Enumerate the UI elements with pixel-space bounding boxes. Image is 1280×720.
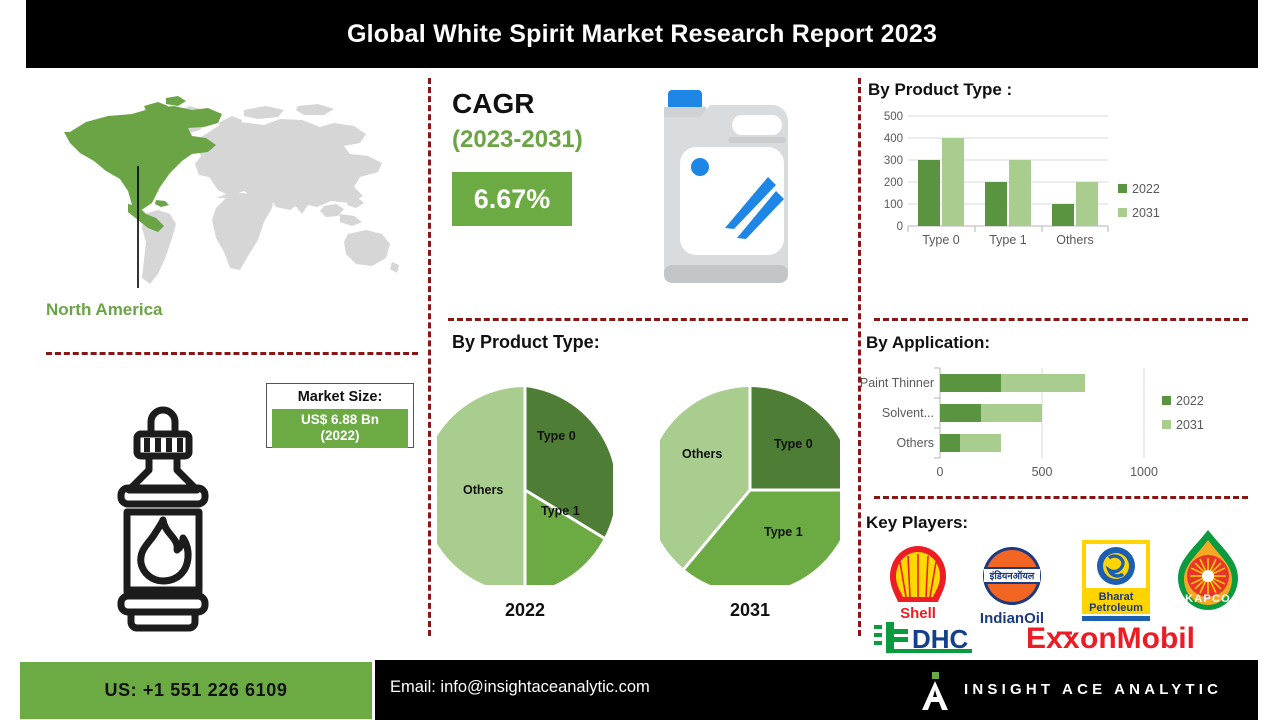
logo-bharat-petroleum: Bharat Petroleum (1082, 540, 1150, 621)
pie-2022-label-others: Others (463, 483, 503, 497)
svg-text:Solvent...: Solvent... (882, 406, 934, 420)
bar-solvent-2031 (981, 404, 1042, 422)
logo-dhc: DHC (874, 622, 972, 653)
logo-indianoil: इंडियनऑयल IndianOil (980, 547, 1044, 627)
page-title: Global White Spirit Market Research Repo… (26, 0, 1258, 68)
col-bar-others-2031 (1076, 182, 1098, 226)
market-size-amount: US$ 6.88 Bn (272, 412, 408, 428)
application-bar-chart: Paint Thinner Solvent... Others 0 500 10… (846, 362, 1256, 497)
svg-text:2031: 2031 (1176, 418, 1204, 432)
col-bar-type0-2031 (942, 138, 964, 226)
pie-chart-2031: Type 0 Type 1 Others 2031 (660, 385, 840, 631)
column-chart: 500 400 300 200 100 0 Type 0 Type 1 Othe… (866, 108, 1196, 248)
svg-text:E: E (1026, 622, 1046, 653)
col-bar-type0-2022 (918, 160, 940, 226)
svg-text:2031: 2031 (1132, 206, 1160, 220)
bar-others-2031 (960, 434, 1001, 452)
divider-vertical-left (428, 78, 431, 636)
col-bar-type1-2022 (985, 182, 1007, 226)
svg-text:onMobil: onMobil (1080, 622, 1195, 653)
col-legend-swatch-2031 (1118, 208, 1127, 217)
brand-logo-icon (918, 672, 952, 710)
svg-text:100: 100 (884, 199, 903, 211)
col-legend-swatch-2022 (1118, 184, 1127, 193)
col-bar-others-2022 (1052, 204, 1074, 226)
market-size-title: Market Size: (267, 388, 413, 406)
lantern-flame-icon (95, 392, 230, 632)
pie-2022-year: 2022 (437, 600, 613, 621)
svg-text:Petroleum: Petroleum (1089, 602, 1143, 614)
svg-text:2022: 2022 (1176, 394, 1204, 408)
svg-text:Others: Others (1056, 233, 1094, 247)
svg-text:x: x (1063, 622, 1080, 653)
divider-horizontal-right-top (874, 318, 1248, 321)
svg-text:Type 0: Type 0 (922, 233, 960, 247)
svg-text:300: 300 (884, 155, 903, 167)
pie-2031-label-type0: Type 0 (774, 437, 813, 451)
bar-legend-swatch-2022 (1162, 396, 1171, 405)
world-map (48, 88, 408, 308)
svg-text:Paint Thinner: Paint Thinner (860, 376, 934, 390)
bar-legend-swatch-2031 (1162, 420, 1171, 429)
col-bar-type1-2031 (1009, 160, 1031, 226)
svg-text:500: 500 (884, 111, 903, 123)
svg-text:2022: 2022 (1132, 182, 1160, 196)
jerrycan-icon (650, 85, 805, 300)
svg-text:Type 1: Type 1 (989, 233, 1027, 247)
divider-horizontal-left (46, 352, 418, 355)
header-bar: Global White Spirit Market Research Repo… (26, 0, 1258, 68)
logo-kapco: KAPCO (1178, 530, 1238, 610)
svg-text:Shell: Shell (900, 605, 936, 622)
cagr-years: (2023-2031) (452, 126, 583, 154)
pie-2031-label-others: Others (682, 447, 722, 461)
bar-paint-thinner-2031 (1001, 374, 1085, 392)
cagr-value: 6.67% (474, 184, 551, 215)
divider-horizontal-center (448, 318, 848, 321)
bar-others-2022 (940, 434, 960, 452)
pie-2022-label-type1: Type 1 (541, 504, 580, 518)
svg-text:400: 400 (884, 133, 903, 145)
svg-text:0: 0 (897, 221, 903, 233)
pie-2022-label-type0: Type 0 (537, 429, 576, 443)
svg-text:इंडियनऑयल: इंडियनऑयल (989, 570, 1035, 582)
pie-2031-label-type1: Type 1 (764, 525, 803, 539)
bar-paint-thinner-2022 (940, 374, 1001, 392)
logo-shell: Shell (890, 546, 946, 622)
brand-name: INSIGHT ACE ANALYTIC (964, 681, 1222, 698)
flame-shape (141, 520, 188, 581)
svg-text:KAPCO: KAPCO (1185, 593, 1231, 605)
svg-text:Others: Others (896, 436, 934, 450)
market-size-year: (2022) (272, 428, 408, 444)
svg-text:1000: 1000 (1130, 465, 1158, 479)
footer-email-text: Email: info@insightaceanalytic.com (390, 678, 650, 697)
pie-2031-svg (660, 385, 840, 585)
cagr-title: CAGR (452, 88, 534, 120)
svg-text:500: 500 (1032, 465, 1053, 479)
column-chart-title: By Product Type : (868, 80, 1012, 100)
cagr-value-box: 6.67% (452, 172, 572, 226)
bar-solvent-2022 (940, 404, 981, 422)
key-players-logos: Shell DHC इंडियनऑयल IndianOil Bharat Pet… (860, 528, 1260, 653)
footer-phone-text: US: +1 551 226 6109 (104, 680, 287, 701)
pie-chart-2022: Type 0 Type 1 Others 2022 (437, 385, 613, 631)
svg-text:x: x (1046, 622, 1063, 653)
svg-text:0: 0 (937, 465, 944, 479)
market-size-box: Market Size: US$ 6.88 Bn (2022) (266, 383, 414, 448)
pie-2031-year: 2031 (660, 600, 840, 621)
bar-chart-title: By Application: (866, 333, 990, 353)
logo-exxonmobil: E x x onMobil (1026, 622, 1195, 653)
svg-text:DHC: DHC (912, 624, 969, 653)
market-size-value: US$ 6.88 Bn (2022) (272, 409, 408, 448)
svg-text:200: 200 (884, 177, 903, 189)
pie-section-title: By Product Type: (452, 332, 600, 353)
region-label: North America (46, 300, 163, 320)
footer-phone-box: US: +1 551 226 6109 (20, 662, 372, 719)
